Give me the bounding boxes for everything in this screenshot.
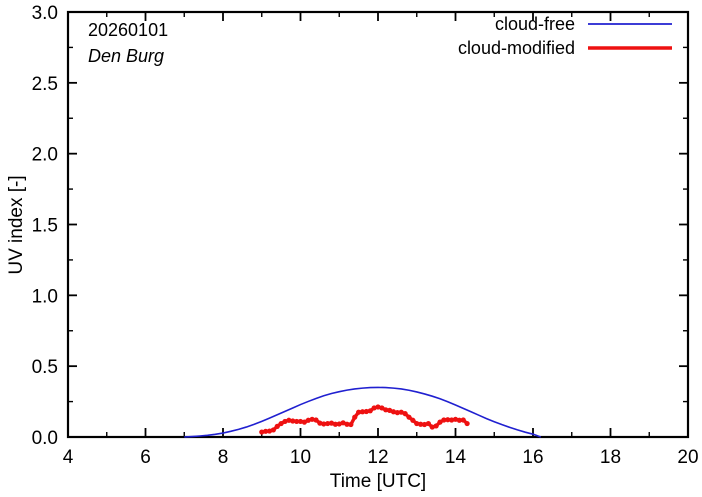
x-tick-label: 10 (290, 447, 311, 468)
data-series-layer (184, 387, 541, 437)
y-tick-label: 0.0 (32, 428, 58, 449)
legend-label-cloud-free: cloud-free (495, 14, 575, 34)
series-cloud-modified-marker (434, 423, 439, 428)
plot-frame (68, 12, 688, 437)
annotation-site: Den Burg (88, 46, 164, 66)
uv-index-chart: 468101214161820 0.00.51.01.52.02.53.0 Ti… (0, 0, 702, 497)
y-tick-label: 1.0 (32, 286, 58, 307)
x-tick-label: 6 (140, 447, 151, 468)
series-cloud-modified-marker (352, 415, 357, 420)
x-tick-label: 16 (522, 447, 543, 468)
series-cloud-modified-marker (426, 421, 431, 426)
series-cloud-modified-marker (403, 411, 408, 416)
x-tick-label: 4 (63, 447, 74, 468)
legend: cloud-free cloud-modified (458, 14, 672, 58)
series-cloud-modified-marker (348, 422, 353, 427)
x-axis-tick-labels: 468101214161820 (63, 447, 699, 468)
series-cloud-modified-marker (271, 427, 276, 432)
y-tick-label: 2.0 (32, 145, 58, 166)
x-tick-label: 12 (367, 447, 388, 468)
legend-label-cloud-modified: cloud-modified (458, 38, 575, 58)
x-tick-label: 8 (218, 447, 229, 468)
y-tick-label: 0.5 (32, 357, 58, 378)
plot-canvas: 468101214161820 0.00.51.01.52.02.53.0 Ti… (0, 0, 702, 497)
series-cloud-modified-marker (465, 421, 470, 426)
y-tick-label: 2.5 (32, 74, 58, 95)
series-cloud-modified-marker (461, 417, 466, 422)
y-axis-ticks (68, 12, 688, 437)
x-tick-label: 20 (677, 447, 698, 468)
x-tick-label: 18 (600, 447, 621, 468)
y-tick-label: 3.0 (32, 3, 58, 24)
x-tick-label: 14 (445, 447, 467, 468)
y-tick-label: 1.5 (32, 216, 58, 237)
annotation-date: 20260101 (88, 20, 168, 40)
x-axis-ticks (68, 12, 688, 437)
y-axis-title: UV index [-] (6, 175, 27, 274)
x-axis-title: Time [UTC] (330, 471, 426, 492)
y-axis-tick-labels: 0.00.51.01.52.02.53.0 (32, 3, 58, 449)
